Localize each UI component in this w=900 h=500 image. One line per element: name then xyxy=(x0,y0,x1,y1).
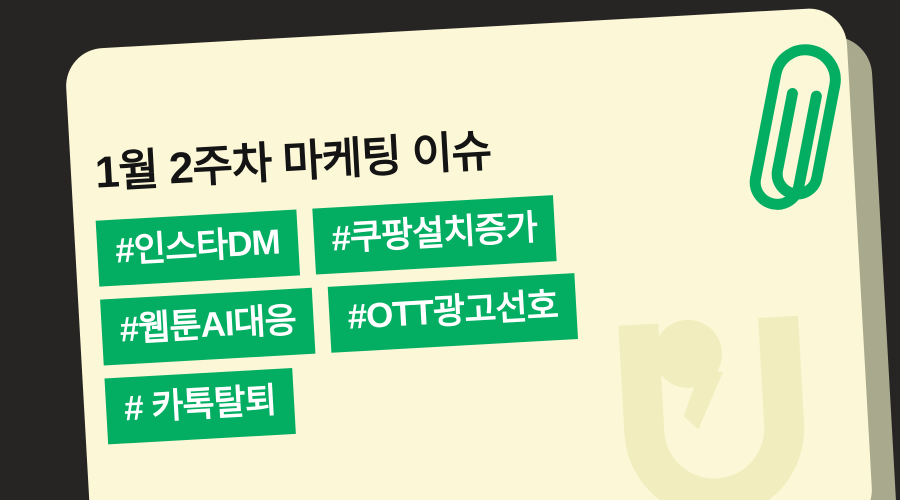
hashtag-chip-kakao-leave[interactable]: # 카톡탈퇴 xyxy=(104,368,295,444)
hashtag-row: #웹툰AI대응 #OTT광고선호 xyxy=(100,273,577,365)
hashtag-row: #인스타DM #쿠팡설치증가 xyxy=(96,194,573,286)
hashtag-chip-webtoon-ai[interactable]: #웹툰AI대응 xyxy=(100,288,316,366)
hashtag-row: # 카톡탈퇴 xyxy=(104,352,581,444)
hashtag-chip-coupang-install[interactable]: #쿠팡설치증가 xyxy=(312,195,557,274)
hashtag-chip-ott-ad[interactable]: #OTT광고선호 xyxy=(328,273,578,353)
hashtag-chip-insta-dm[interactable]: #인스타DM xyxy=(96,210,300,287)
page-title: 1월 2주차 마케팅 이슈 xyxy=(93,115,492,201)
poster-canvas: 1월 2주차 마케팅 이슈 #인스타DM #쿠팡설치증가 #웹툰AI대응 #OT… xyxy=(0,0,900,500)
hashtag-list: #인스타DM #쿠팡설치증가 #웹툰AI대응 #OTT광고선호 # 카톡탈퇴 xyxy=(96,194,582,444)
